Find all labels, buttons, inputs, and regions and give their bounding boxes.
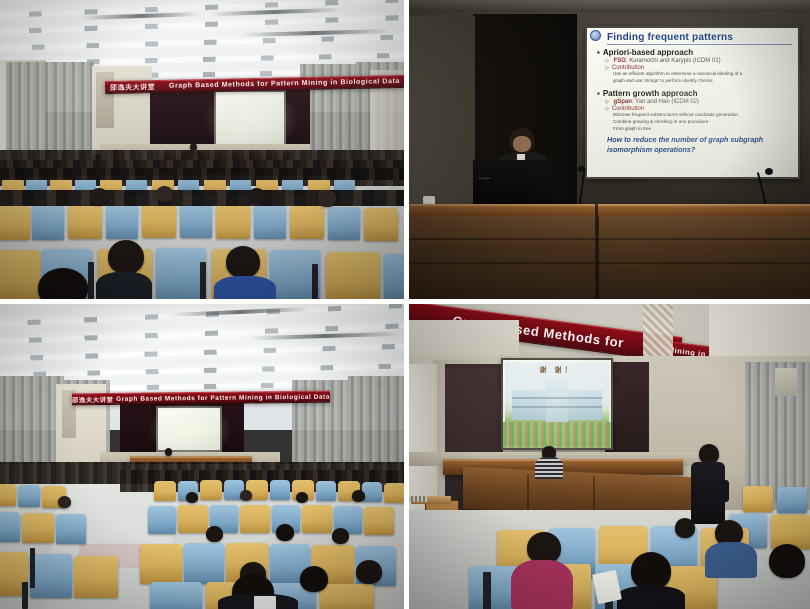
laptop-brand-label: Lenovo <box>479 176 501 180</box>
slide-detail-1a: Use an efficient algorithm to determine … <box>613 71 792 77</box>
screen-caption: 谢 谢！ <box>503 365 611 375</box>
standing-attendee-head <box>699 444 719 464</box>
laptop <box>473 160 553 206</box>
photo-panel-bottom-right[interactable]: Graph Based Methods for Mining in Biolog… <box>409 304 810 609</box>
slide-detail-1b: graph and use 'strings' to perform ident… <box>613 78 792 84</box>
slide-content: Finding frequent patterns Apriori-based … <box>587 28 798 177</box>
slide-detail-2c: From graph to tree <box>613 126 792 132</box>
photo-panel-top-left[interactable]: 邵逸夫大讲堂 Graph Based Methods for Pattern M… <box>0 0 404 299</box>
slide-logo-icon <box>590 30 601 41</box>
ceiling-decoration <box>643 304 673 362</box>
banner-chinese-text: 邵逸夫大讲堂 <box>72 394 113 403</box>
projection-screen-campus: 谢 谢！ <box>501 358 613 450</box>
wall-speaker <box>775 368 797 396</box>
slide-heading-pattern-growth: Pattern growth approach <box>597 89 792 98</box>
slide-item-fsg: FSG: Kuramochi and Karypis (ICDM 01) <box>605 58 792 64</box>
slide-question: How to reduce the number of graph subgra… <box>607 135 792 154</box>
banner-chinese-text: 邵逸夫大讲堂 <box>110 82 155 93</box>
attendee-pink-jacket <box>511 560 573 609</box>
slide-title: Finding frequent patterns <box>607 32 792 45</box>
slide-heading-apriori: Apriori-based approach <box>597 48 792 57</box>
photo-panel-top-right[interactable]: Finding frequent patterns Apriori-based … <box>409 0 810 299</box>
banner-english-text: Graph Based Methods for Pattern Mining i… <box>169 78 400 90</box>
photo-collage: 邵逸夫大讲堂 Graph Based Methods for Pattern M… <box>0 0 810 609</box>
slide-detail-2a: Discover frequent substructures without … <box>613 112 792 118</box>
slide-item-gspan: gSpan: Yan and Han (ICDM 02) <box>605 99 792 105</box>
bag-tag <box>254 596 276 609</box>
front-desk <box>409 216 810 299</box>
banner-english-text: Graph Based Methods for Pattern Mining i… <box>116 393 330 402</box>
photo-panel-bottom-left[interactable]: 邵逸夫大讲堂 Graph Based Methods for Pattern M… <box>0 304 404 609</box>
slide-detail-2b: Combine growing & checking in one proced… <box>613 119 792 125</box>
presentation-screen: Finding frequent patterns Apriori-based … <box>585 26 800 179</box>
speaker-at-table-body <box>535 457 563 479</box>
slide-item-contribution-2: Contribution <box>605 106 792 112</box>
slide-item-contribution-1: Contribution <box>605 65 792 71</box>
